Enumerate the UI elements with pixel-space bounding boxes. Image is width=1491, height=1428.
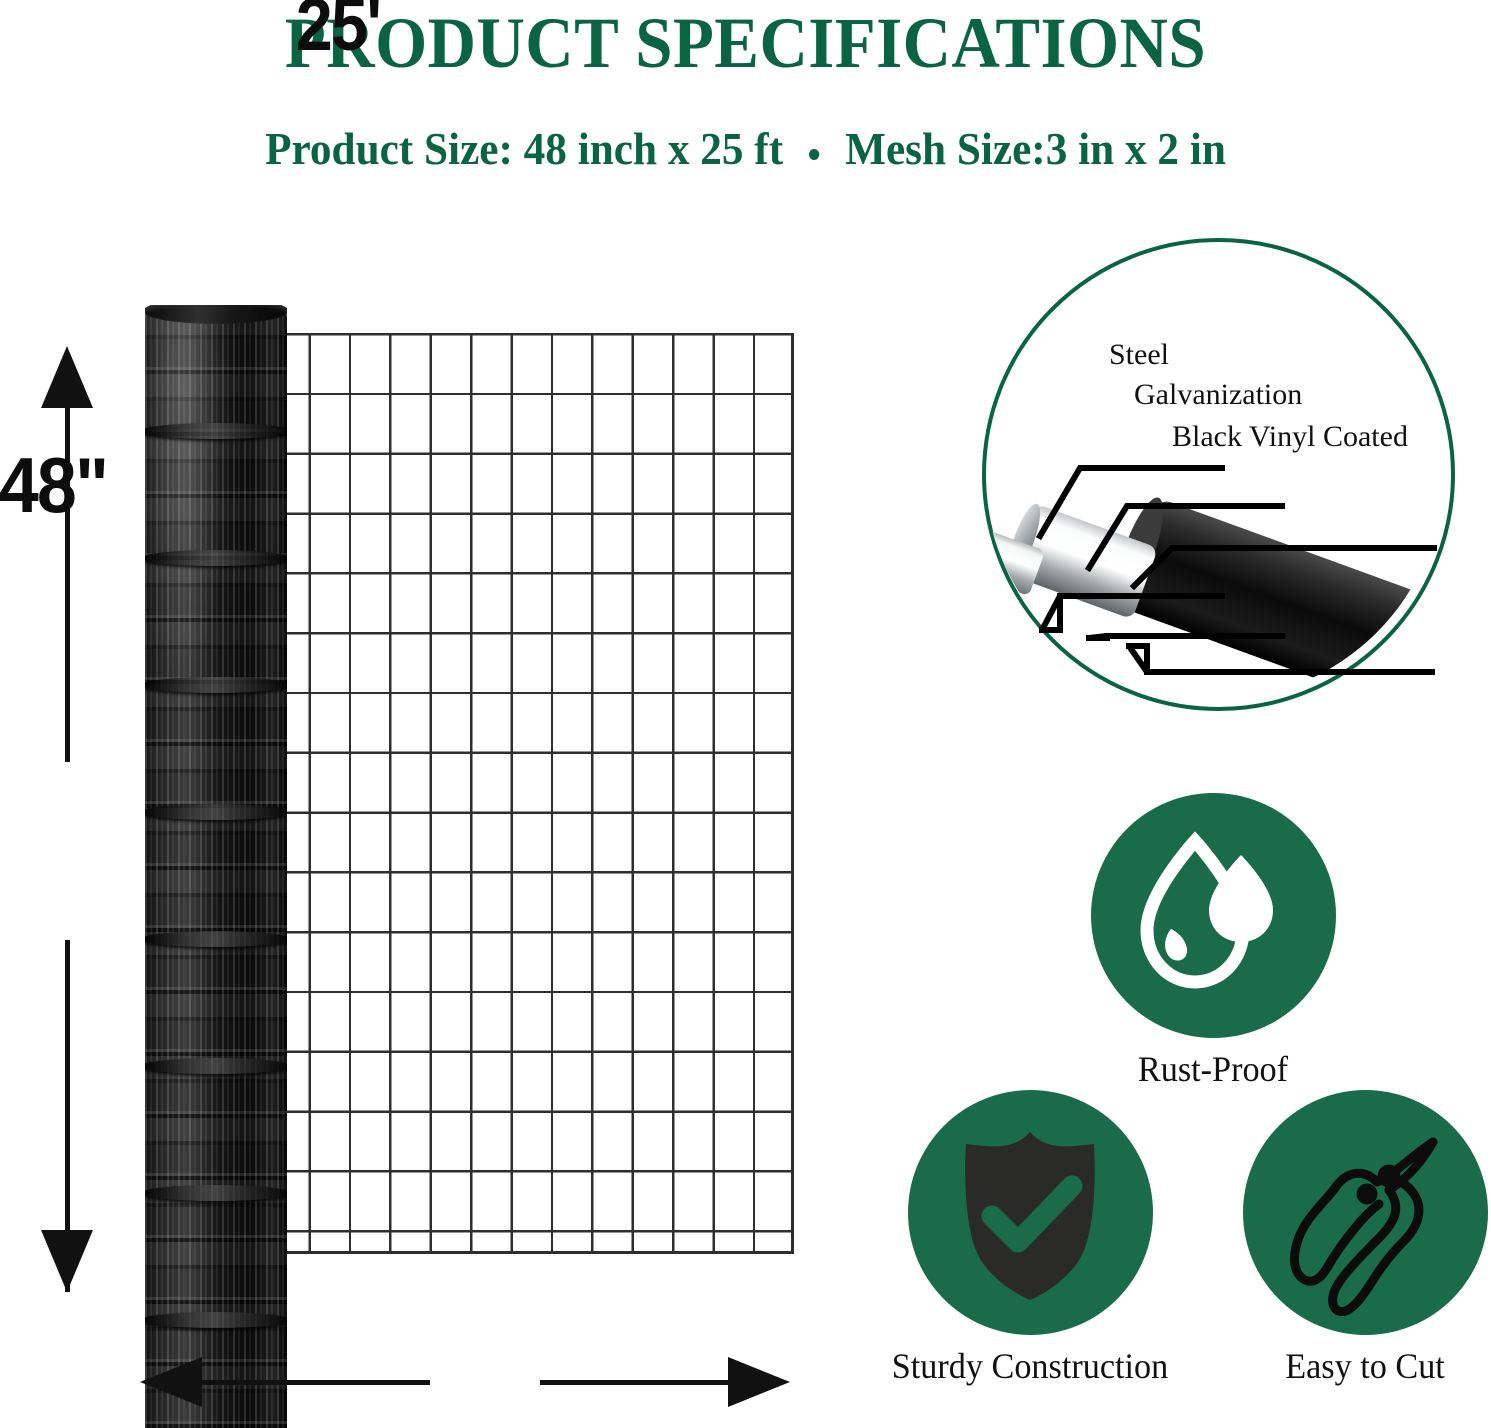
- mesh-right-edge: [791, 333, 794, 1254]
- callout-label-galvanization: Galvanization: [1134, 378, 1302, 412]
- feature-caption: Easy to Cut: [1246, 1345, 1484, 1387]
- wire-mesh-panel: [268, 333, 793, 1254]
- roll-ring: [145, 423, 287, 439]
- arrowhead-down-icon: [41, 1230, 93, 1292]
- pliers-icon: [1243, 1090, 1488, 1335]
- wire-svg: [982, 238, 1491, 708]
- roll-ring: [145, 1058, 287, 1074]
- roll-body: [145, 305, 287, 1428]
- callout-label-black-vinyl-coated: Black Vinyl Coated: [1172, 420, 1408, 454]
- shield-check-icon: [908, 1090, 1153, 1335]
- roll-ring: [145, 1185, 287, 1201]
- mesh-bottom-edge: [268, 1251, 793, 1254]
- feature-rust-proof: Rust-Proof: [1083, 793, 1343, 1090]
- feature-easy-to-cut: Easy to Cut: [1240, 1090, 1490, 1387]
- feature-sturdy-construction: Sturdy Construction: [880, 1090, 1180, 1387]
- water-drop-icon: [1091, 793, 1336, 1038]
- arrowhead-up-icon: [41, 346, 93, 408]
- dimension-shaft-right: [540, 1380, 735, 1385]
- height-label: 48": [0, 440, 113, 531]
- wire-roll-image: [145, 305, 287, 1428]
- feature-caption: Sturdy Construction: [888, 1345, 1173, 1387]
- roll-ring: [145, 1312, 287, 1328]
- pliers-svg: [1243, 1090, 1488, 1335]
- roll-ring: [145, 804, 287, 820]
- spec-subtitle: Product Size: 48 inch x 25 ft Mesh Size:…: [45, 122, 1447, 180]
- dimension-shaft-left: [198, 1380, 430, 1385]
- water-drop-svg: [1091, 793, 1336, 1038]
- mesh-size-text: Mesh Size:3 in x 2 in: [845, 123, 1226, 174]
- shield-check-svg: [908, 1090, 1153, 1335]
- spec-separator: [794, 127, 834, 180]
- wire-cross-section-diagram: Steel Galvanization Black Vinyl Coated: [982, 238, 1491, 708]
- roll-ring: [145, 550, 287, 566]
- arrowhead-right-icon: [728, 1357, 790, 1407]
- width-label: 25': [275, 0, 401, 67]
- feature-caption: Rust-Proof: [1090, 1048, 1337, 1090]
- callout-label-steel: Steel: [1109, 338, 1169, 372]
- width-dimension-arrow: [140, 1352, 790, 1414]
- roll-ring: [145, 677, 287, 693]
- arrowhead-left-icon: [140, 1357, 202, 1407]
- roll-ring: [145, 931, 287, 947]
- bullet-icon: [809, 149, 819, 160]
- page-title: PRODUCT SPECIFICATIONS: [52, 2, 1439, 85]
- product-size-text: Product Size: 48 inch x 25 ft: [265, 123, 783, 174]
